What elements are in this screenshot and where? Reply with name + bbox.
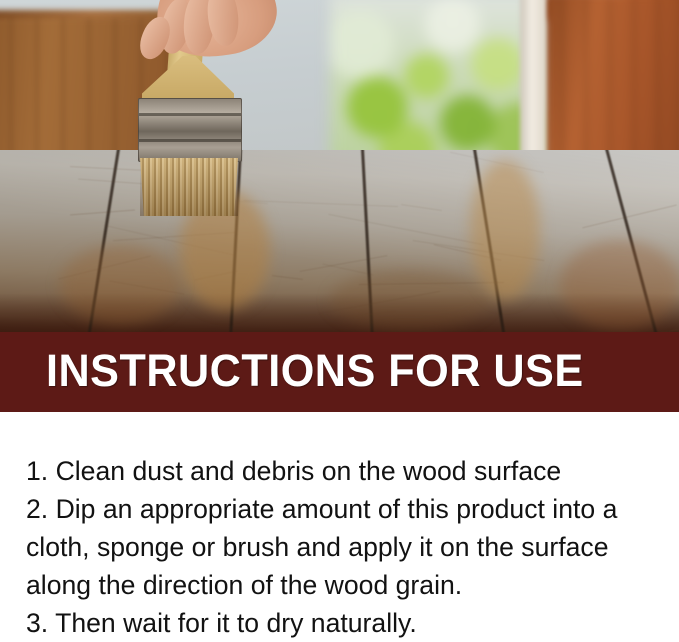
product-usage-photo — [0, 0, 679, 333]
brush-handle-flare — [142, 56, 234, 104]
page-title: INSTRUCTIONS FOR USE — [46, 345, 584, 397]
wet-deck-surface — [0, 150, 679, 333]
wet-reflection — [470, 160, 540, 300]
instruction-line: 3. Then wait for it to dry naturally. — [26, 604, 656, 642]
instruction-line: cloth, sponge or brush and apply it on t… — [26, 528, 656, 566]
wet-reflection — [560, 240, 679, 330]
brush-bristle-shading — [140, 158, 238, 216]
instruction-line: 2. Dip an appropriate amount of this pro… — [26, 490, 656, 528]
instruction-line: 1. Clean dust and debris on the wood sur… — [26, 452, 656, 490]
brush-ferrule — [138, 98, 242, 162]
instructions-body: 1. Clean dust and debris on the wood sur… — [0, 412, 679, 642]
ferrule-band — [139, 113, 241, 116]
wet-reflection — [60, 245, 180, 325]
instructions-card: INSTRUCTIONS FOR USE 1. Clean dust and d… — [0, 0, 679, 642]
instruction-list: 1. Clean dust and debris on the wood sur… — [26, 452, 666, 642]
ferrule-band — [139, 139, 241, 142]
paint-brush — [118, 0, 268, 199]
instruction-line: along the direction of the wood grain. — [26, 566, 656, 604]
wet-reflection — [330, 270, 490, 330]
